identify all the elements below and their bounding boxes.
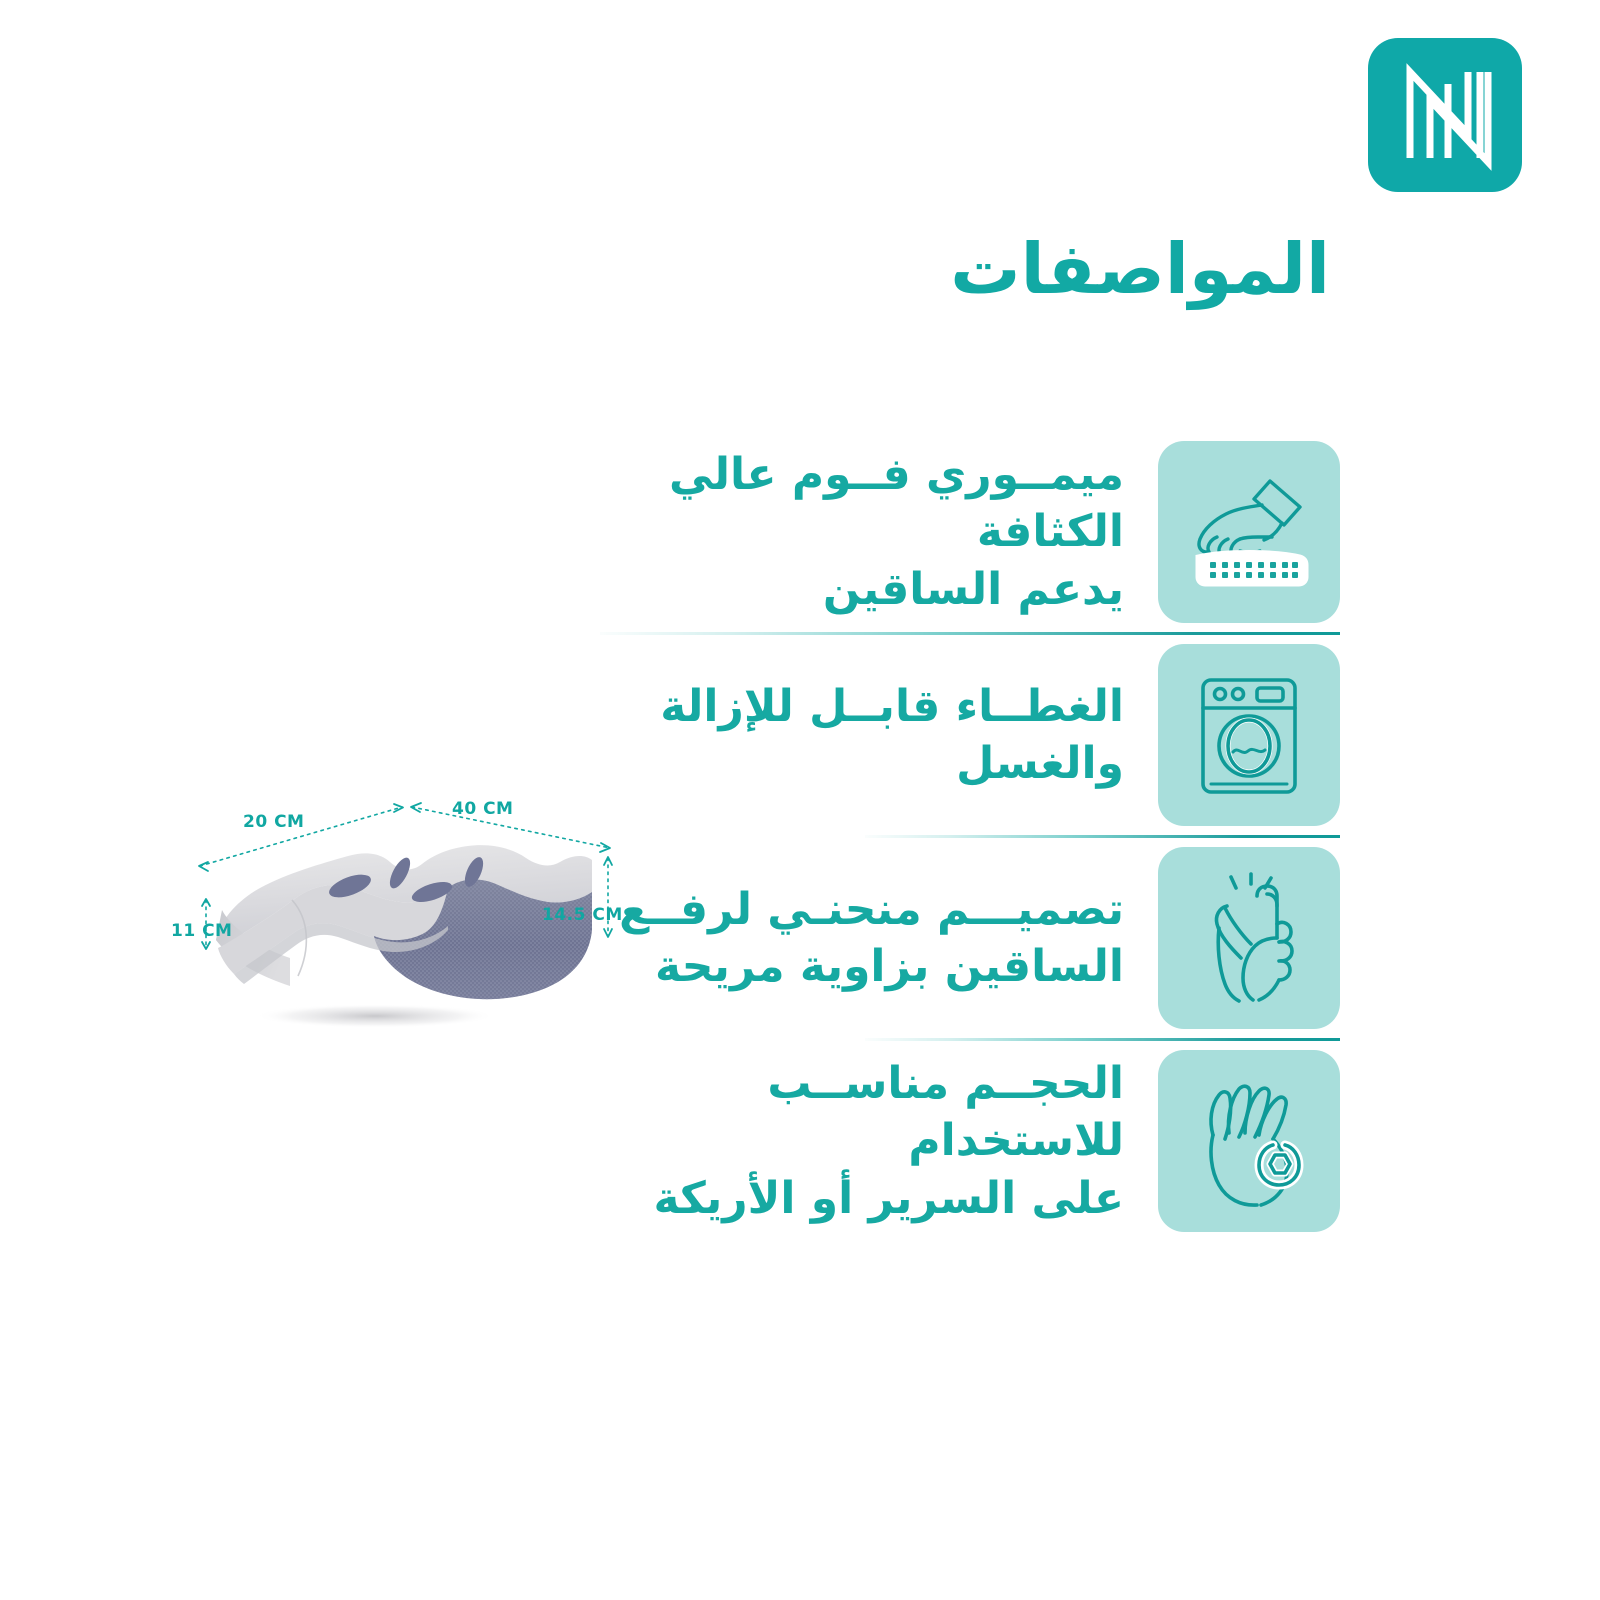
brand-logo[interactable] — [1368, 38, 1522, 192]
page-title: المواصفات — [0, 228, 1330, 310]
feature-label-curved-design: تصميـــم منحنـي لرفــع الساقين بزاوية مر… — [600, 881, 1134, 995]
feature-label-suitable-size: الحجــم مناســب للاستخدام على السرير أو … — [600, 1055, 1134, 1227]
product-image-with-dimensions: 20 CM 40 CM 11 CM 14.5 CM — [160, 780, 640, 1040]
dimension-label-depth: 20 CM — [243, 812, 304, 832]
nn-monogram-logo — [1368, 38, 1522, 192]
ok-pinch-hand-icon — [1189, 1075, 1309, 1207]
feature-icon-tile-suitable-size — [1158, 1050, 1340, 1232]
dimension-label-front-height: 11 CM — [171, 921, 232, 941]
washing-machine-icon — [1189, 670, 1309, 800]
specifications-list: ميمــوري فــوم عالي الكثافة يدعم الساقين — [600, 432, 1340, 1241]
feature-icon-tile-memory-foam — [1158, 441, 1340, 623]
feature-icon-tile-curved-design — [1158, 847, 1340, 1029]
feature-label-washable-cover: الغطــاء قابــل للإزالة والغسل — [600, 678, 1134, 792]
feature-icon-tile-washable-cover — [1158, 644, 1340, 826]
feature-row-curved-design: تصميـــم منحنـي لرفــع الساقين بزاوية مر… — [600, 838, 1340, 1038]
feature-label-memory-foam: ميمــوري فــوم عالي الكثافة يدعم الساقين — [600, 446, 1134, 618]
feature-row-suitable-size: الحجــم مناســب للاستخدام على السرير أو … — [600, 1041, 1340, 1241]
dimension-label-width: 40 CM — [452, 799, 513, 819]
feature-row-washable-cover: الغطــاء قابــل للإزالة والغسل — [600, 635, 1340, 835]
pointing-hand-icon — [1189, 872, 1309, 1004]
hand-pressing-foam-icon — [1184, 467, 1314, 597]
feature-row-memory-foam: ميمــوري فــوم عالي الكثافة يدعم الساقين — [600, 432, 1340, 632]
